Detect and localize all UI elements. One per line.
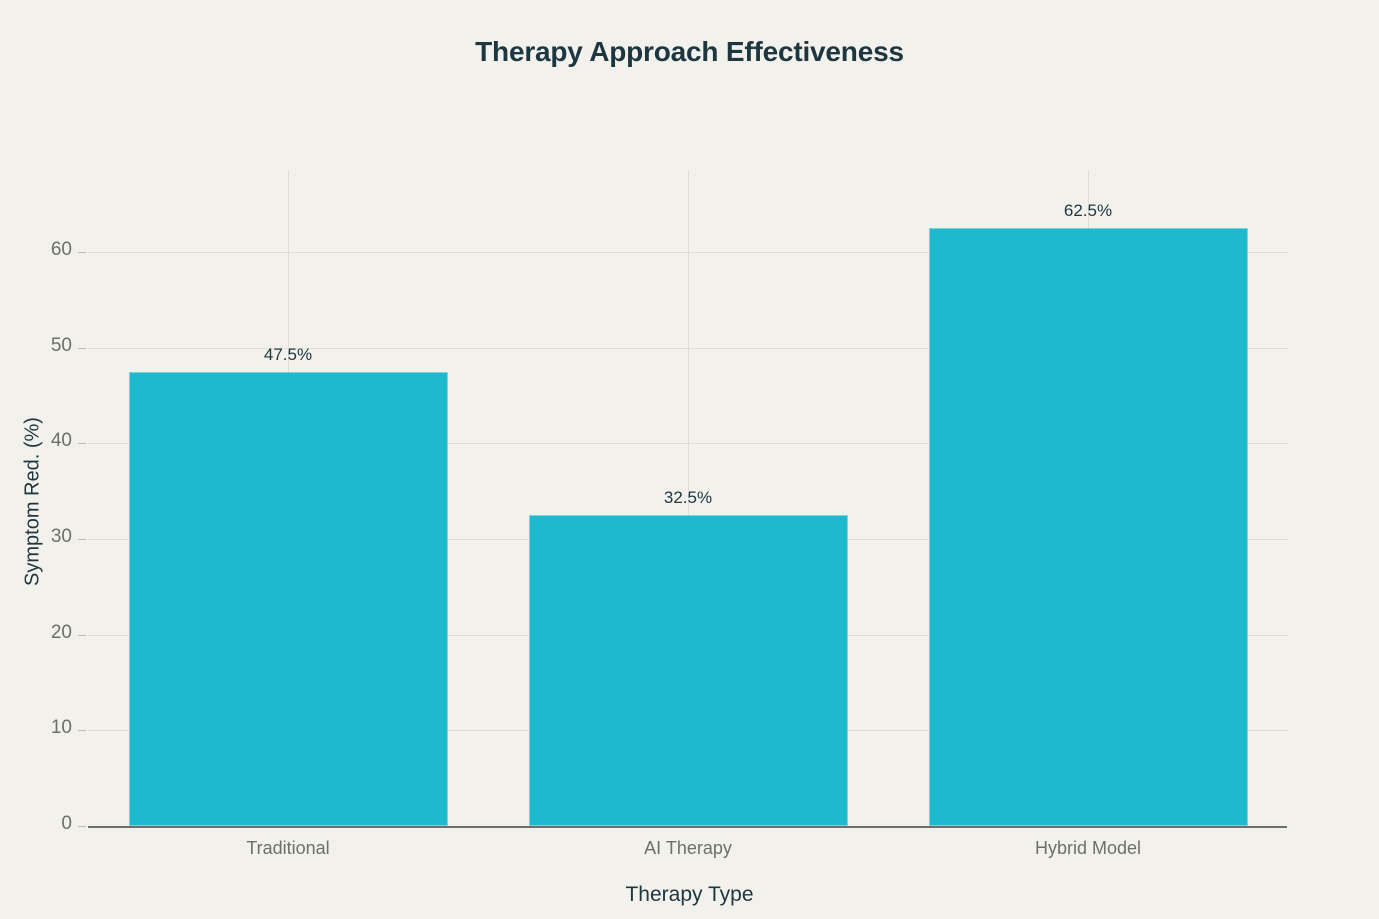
y-axis-tick-mark bbox=[78, 539, 86, 540]
bar-ai-therapy[interactable] bbox=[529, 515, 848, 826]
bar-traditional[interactable] bbox=[129, 372, 448, 826]
y-axis-tick-label: 50 bbox=[24, 335, 72, 357]
y-axis-tick-mark bbox=[78, 443, 86, 444]
bar-value-label: 47.5% bbox=[264, 345, 312, 365]
y-axis-tick-mark bbox=[78, 635, 86, 636]
y-axis-tick-label: 60 bbox=[24, 239, 72, 261]
x-axis-tick-label: Traditional bbox=[246, 838, 329, 859]
chart-title: Therapy Approach Effectiveness bbox=[0, 36, 1379, 68]
bar-value-label: 32.5% bbox=[664, 488, 712, 508]
y-axis-tick-label: 10 bbox=[24, 717, 72, 739]
x-axis-tick-label: Hybrid Model bbox=[1035, 838, 1141, 859]
x-axis-label: Therapy Type bbox=[0, 883, 1379, 907]
y-axis-tick-mark bbox=[78, 730, 86, 731]
y-axis-tick-mark bbox=[78, 252, 86, 253]
x-axis-tick-label: AI Therapy bbox=[644, 838, 732, 859]
y-axis-tick-mark bbox=[78, 826, 86, 827]
y-axis-tick-label: 0 bbox=[24, 813, 72, 835]
x-axis-line bbox=[88, 826, 1287, 828]
y-axis-tick-label: 40 bbox=[24, 430, 72, 452]
bar-hybrid-model[interactable] bbox=[929, 228, 1248, 826]
bar-value-label: 62.5% bbox=[1064, 201, 1112, 221]
y-axis-tick-label: 30 bbox=[24, 526, 72, 548]
y-axis-tick-mark bbox=[78, 348, 86, 349]
chart-figure: Therapy Approach Effectiveness Symptom R… bbox=[0, 0, 1379, 919]
y-axis-tick-label: 20 bbox=[24, 622, 72, 644]
